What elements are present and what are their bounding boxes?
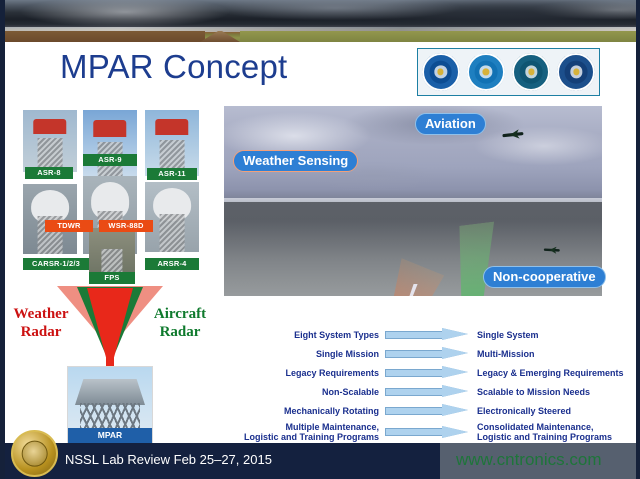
aircraft-radar-line1: Aircraft	[154, 306, 206, 322]
radar-label-carsr: CARSR-1/2/3	[23, 258, 89, 270]
transition-arrow-icon	[385, 347, 469, 360]
convergence-arrows	[57, 286, 163, 374]
aircraft-radar-line2: Radar	[160, 324, 201, 340]
tower-legs	[80, 403, 140, 429]
mpar-caption: MPAR	[68, 428, 152, 443]
storm-cloud-layer	[5, 0, 640, 30]
dot-seal-icon	[422, 53, 460, 91]
transition-arrow-icon	[385, 385, 469, 398]
radar-label-asr8: ASR-8	[25, 167, 73, 179]
radar-photo-tdwr	[23, 184, 77, 254]
dirt-road	[200, 31, 240, 42]
row-right-label: Scalable to Mission Needs	[469, 387, 590, 397]
row-left-label: Non-Scalable	[211, 387, 385, 397]
aviation-pill: Aviation	[415, 113, 486, 135]
row-left-label: Multiple Maintenance, Logistic and Train…	[211, 422, 385, 442]
field-left	[5, 31, 205, 42]
weather-radar-line2: Radar	[21, 324, 62, 340]
phased-array-panel	[75, 379, 145, 405]
radar-photo-asr9	[83, 110, 137, 182]
transition-arrow-icon	[385, 328, 469, 341]
radar-photo-asr11	[145, 110, 199, 176]
mpar-photo: MPAR	[67, 366, 153, 444]
table-row: Eight System Types Single System	[211, 328, 629, 341]
dhs-seal-icon	[557, 53, 595, 91]
radar-photo-arsr4	[145, 182, 199, 252]
page-title: MPAR Concept	[60, 48, 287, 86]
non-cooperative-pill: Non-cooperative	[483, 266, 606, 288]
table-row: Multiple Maintenance, Logistic and Train…	[211, 422, 629, 442]
slide-footer: NSSL Lab Review Feb 25–27, 2015 www.cntr…	[5, 443, 640, 479]
radar-label-asr9: ASR-9	[83, 154, 137, 166]
row-left-label: Mechanically Rotating	[211, 406, 385, 416]
radar-photo-asr8	[23, 110, 77, 172]
comparison-table: Eight System Types Single System Single …	[211, 328, 629, 440]
watermark-block: www.cntronics.com	[440, 443, 640, 479]
footer-text: NSSL Lab Review Feb 25–27, 2015	[65, 452, 272, 467]
watermark-text: www.cntronics.com	[456, 450, 601, 470]
storm-banner-image	[5, 0, 640, 42]
legacy-radar-photo-grid: ASR-8 ASR-9 ASR-11 TDWR WSR-88D CARSR-1/…	[23, 110, 211, 290]
row-right-label: Consolidated Maintenance, Logistic and T…	[469, 422, 612, 442]
radar-label-wsr88d: WSR-88D	[99, 220, 153, 232]
table-row: Mechanically Rotating Electronically Ste…	[211, 404, 629, 417]
transition-arrow-icon	[385, 426, 469, 439]
field-right	[240, 31, 640, 42]
table-row: Legacy Requirements Legacy & Emerging Re…	[211, 366, 629, 379]
agency-seals-panel	[417, 48, 600, 96]
row-right-label: Single System	[469, 330, 539, 340]
table-row: Single Mission Multi-Mission	[211, 347, 629, 360]
row-left-label: Legacy Requirements	[211, 368, 385, 378]
nssl-seal-icon	[11, 430, 58, 477]
transition-arrow-icon	[385, 404, 469, 417]
weather-radar-label: Weather Radar	[13, 305, 69, 341]
dod-seal-icon	[512, 53, 550, 91]
transition-arrow-icon	[385, 366, 469, 379]
weather-sensing-pill: Weather Sensing	[233, 150, 358, 172]
radar-label-tdwr: TDWR	[45, 220, 93, 232]
radar-label-arsr4: ARSR-4	[145, 258, 199, 270]
row-left-label: Eight System Types	[211, 330, 385, 340]
commerce-seal-icon	[467, 53, 505, 91]
row-right-label: Legacy & Emerging Requirements	[469, 368, 624, 378]
radar-label-fps: FPS	[89, 272, 135, 284]
radar-label-asr11: ASR-11	[147, 168, 197, 180]
row-right-label: Electronically Steered	[469, 406, 571, 416]
row-right-label: Multi-Mission	[469, 349, 535, 359]
aircraft-radar-label: Aircraft Radar	[150, 305, 210, 341]
presentation-slide: MPAR Concept	[0, 0, 640, 479]
row-left-label: Single Mission	[211, 349, 385, 359]
table-row: Non-Scalable Scalable to Mission Needs	[211, 385, 629, 398]
radar-photo-fps	[89, 228, 135, 274]
weather-radar-line1: Weather	[14, 306, 69, 322]
